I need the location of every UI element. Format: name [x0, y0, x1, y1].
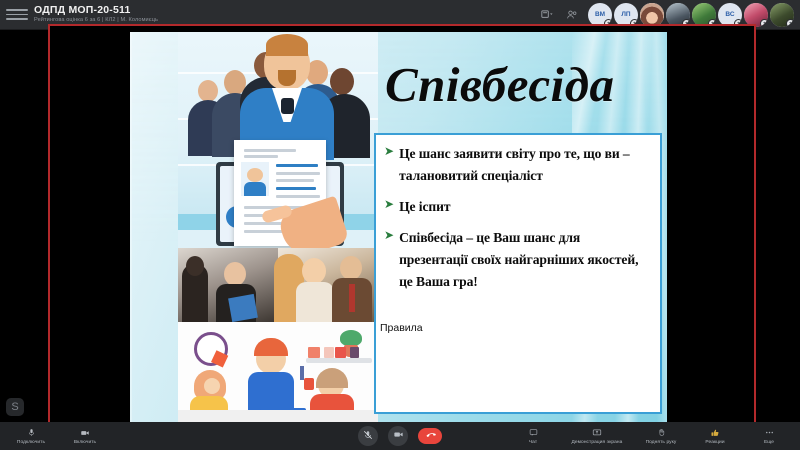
avatar[interactable]: ВС — [718, 3, 742, 27]
connect-audio-button[interactable]: Подключить — [4, 427, 58, 445]
chat-button[interactable]: Чат — [506, 427, 560, 445]
toolbar-label: Демонстрация экрана — [572, 440, 623, 445]
illustration-office-workers — [178, 322, 378, 422]
muted-badge-icon — [760, 19, 768, 27]
toolbar-label: Включить — [74, 440, 96, 445]
avatar[interactable] — [770, 3, 794, 27]
screen-share-region: Співбесіда ➤ Це шанс заявити світу про т… — [48, 24, 756, 428]
slide-bullet-item: ➤ Це шанс заявити світу про те, що ви – … — [384, 143, 652, 187]
bullet-text: Це шанс заявити світу про те, що ви – та… — [399, 143, 652, 187]
skype-icon[interactable]: S — [6, 398, 24, 416]
bullet-arrow-icon: ➤ — [384, 143, 394, 187]
meeting-toolbar: Подключить Включить — [0, 422, 800, 450]
video-camera-icon — [80, 427, 90, 438]
raise-hand-icon — [657, 427, 666, 438]
slide-annotation: Правила — [378, 322, 425, 334]
slide-title: Співбесіда — [385, 56, 667, 113]
microphone-icon — [27, 427, 36, 438]
figure-face — [204, 378, 220, 394]
figure-hair — [316, 368, 348, 388]
slide-bullet-list: ➤ Це шанс заявити світу про те, що ви – … — [376, 135, 660, 293]
avatar-initials: ВМ — [595, 11, 605, 18]
toolbar-label: Еще — [764, 440, 774, 445]
avatar[interactable] — [744, 3, 768, 27]
slide-illustrations — [130, 32, 378, 422]
raise-hand-button[interactable]: Поднять руку — [634, 427, 688, 445]
slide-bullet-item: ➤ Співбесіда – це Ваш шанс для презентац… — [384, 227, 652, 293]
mug-illustration — [304, 378, 314, 390]
start-video-button[interactable]: Включить — [58, 427, 112, 445]
photo-interview-left — [178, 248, 278, 322]
photo-interview-right — [278, 248, 378, 322]
participant-avatar-list: ВМ ЛП — [588, 3, 794, 27]
toolbar-label: Поднять руку — [646, 440, 677, 445]
bullet-arrow-icon: ➤ — [384, 196, 394, 218]
desk-surface — [178, 410, 378, 422]
mute-toggle-button[interactable] — [358, 426, 378, 446]
reactions-button[interactable]: Реакции — [688, 427, 742, 445]
avatar-photo — [640, 3, 664, 27]
avatar[interactable] — [692, 3, 716, 27]
microphone-muted-icon — [363, 427, 373, 445]
screen-share-icon — [592, 427, 602, 438]
view-layout-icon[interactable] — [538, 6, 556, 24]
video-camera-icon — [393, 427, 404, 445]
clock-illustration — [194, 332, 228, 366]
avatar[interactable]: ЛП — [614, 3, 638, 27]
bullet-arrow-icon: ➤ — [384, 227, 394, 293]
screen-share-button[interactable]: Демонстрация экрана — [560, 427, 634, 445]
end-call-button[interactable] — [418, 428, 442, 444]
chat-icon — [529, 427, 538, 438]
bullet-text: Співбесіда – це Ваш шанс для презентації… — [399, 227, 652, 293]
avatar-initials: ЛП — [621, 11, 630, 18]
toolbar-label: Чат — [529, 440, 537, 445]
toolbar-right-group: Чат Демонстрация экрана Поднять руку — [506, 427, 800, 445]
end-call-icon — [424, 427, 436, 445]
slide-bullet-item: ➤ Це іспит — [384, 196, 652, 218]
pen-illustration — [300, 366, 304, 380]
participants-icon[interactable] — [563, 6, 581, 24]
toolbar-label: Реакции — [705, 440, 724, 445]
meeting-info: ОДПД МОП-20-511 Рейтингова оцінка 6 за 6… — [34, 5, 158, 24]
more-dots-icon — [764, 427, 775, 438]
more-options-button[interactable]: Еще — [742, 427, 796, 445]
zoom-meeting-window: ОДПД МОП-20-511 Рейтингова оцінка 6 за 6… — [0, 0, 800, 450]
toolbar-left-group: Подключить Включить — [0, 427, 112, 445]
bullet-text: Це іспит — [399, 196, 450, 218]
video-toggle-button[interactable] — [388, 426, 408, 446]
shelf — [306, 358, 372, 363]
hamburger-icon[interactable] — [6, 9, 28, 20]
toolbar-center-group — [358, 426, 442, 446]
avatar-initials: ВС — [725, 11, 734, 18]
toolbar-label: Подключить — [17, 440, 45, 445]
muted-badge-icon — [786, 19, 794, 27]
illustration-interview-panel — [178, 32, 378, 248]
photo-strip — [178, 248, 378, 322]
figure-hair — [254, 338, 288, 356]
avatar[interactable]: ВМ — [588, 3, 612, 27]
avatar[interactable] — [666, 3, 690, 27]
slide-text-box: ➤ Це шанс заявити світу про те, що ви – … — [374, 133, 662, 414]
avatar[interactable] — [640, 3, 664, 27]
plant-illustration — [340, 330, 362, 346]
meeting-title: ОДПД МОП-20-511 — [34, 5, 158, 16]
presentation-slide: Співбесіда ➤ Це шанс заявити світу про т… — [130, 32, 667, 422]
thumbs-up-icon — [710, 427, 720, 438]
